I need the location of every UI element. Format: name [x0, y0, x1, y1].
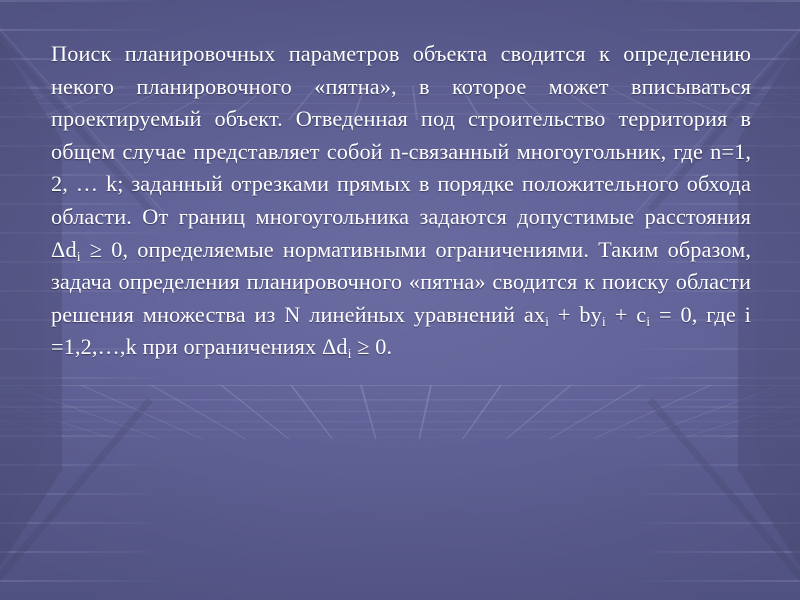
- slide-canvas: Поиск планировочных параметров объекта с…: [0, 0, 800, 600]
- slide-body-text: Поиск планировочных параметров объекта с…: [51, 38, 751, 364]
- body-paragraph: Поиск планировочных параметров объекта с…: [51, 38, 751, 364]
- body-segment-4: + c: [606, 302, 646, 327]
- body-segment-6: ≥ 0.: [352, 334, 393, 359]
- body-segment-1: Поиск планировочных параметров объекта с…: [51, 41, 751, 262]
- body-segment-3: + by: [549, 302, 602, 327]
